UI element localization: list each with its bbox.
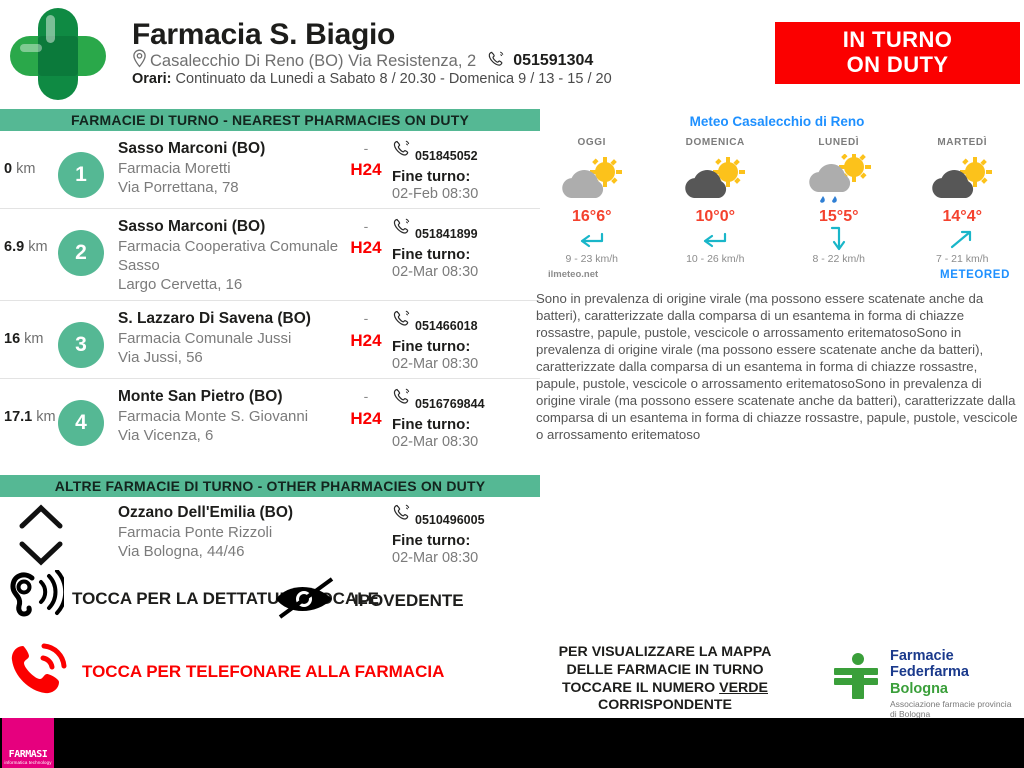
badge-line-1: IN TURNO — [843, 28, 953, 53]
pharmacy-town: Sasso Marconi (BO) — [118, 139, 342, 159]
distance-unit: km — [16, 161, 35, 177]
pharmacy-street: Largo Cervetta, 16 — [118, 275, 342, 294]
pharmacy-town: Monte San Pietro (BO) — [118, 387, 342, 407]
table-row[interactable]: 16 km 3 S. Lazzaro Di Savena (BO) Farmac… — [0, 301, 540, 379]
farmasi-logo: FARMASI informatica technology — [2, 718, 54, 768]
table-row[interactable]: 6.9 km 2 Sasso Marconi (BO) Farmacia Coo… — [0, 209, 540, 301]
section-header-nearest: FARMACIE DI TURNO - NEAREST PHARMACIES O… — [0, 109, 540, 131]
low-vision-label: IPOVEDENTE — [354, 591, 464, 611]
map-hint-line-2: DELLE FARMACIE IN TURNO — [520, 662, 810, 680]
phone-number[interactable]: 051845052 — [415, 150, 478, 163]
pharmacy-phone[interactable]: 051591304 — [513, 52, 593, 70]
end-shift-value: 02-Mar 08:30 — [392, 434, 540, 450]
pharmacy-street: Via Vicenza, 6 — [118, 426, 342, 445]
pharmacy-name: Farmacia Ponte Rizzoli — [118, 523, 342, 542]
h24-cell — [342, 503, 390, 505]
phone-icon — [392, 503, 411, 526]
pharmacy-address-row: Casalecchio Di Reno (BO) Via Resistenza,… — [132, 49, 593, 73]
pharmacy-phone-row[interactable]: 051845052 — [392, 139, 540, 162]
end-shift-label: Fine turno: — [392, 338, 540, 355]
phone-number[interactable]: 051841899 — [415, 228, 478, 241]
weather-wind: 10 - 26 km/h — [654, 253, 778, 265]
distance-value: 17.1 — [4, 409, 32, 425]
weather-day-name: DOMENICA — [654, 137, 778, 148]
pharmacy-phone-row[interactable]: 051466018 — [392, 309, 540, 332]
pharmacy-info: S. Lazzaro Di Savena (BO) Farmacia Comun… — [104, 309, 342, 367]
phone-icon — [392, 387, 411, 410]
weather-credits: ilmeteo.net METEORED — [530, 265, 1024, 281]
end-shift-value: 02-Mar 08:30 — [392, 550, 540, 565]
weather-day-name: LUNEDÌ — [777, 137, 901, 148]
h24-label: H24 — [342, 331, 390, 351]
cloud-dark-sun-icon — [901, 154, 1024, 206]
pharmacy-town: Sasso Marconi (BO) — [118, 217, 342, 237]
h24-cell: - H24 — [342, 217, 390, 258]
weather-wind: 8 - 22 km/h — [777, 253, 901, 265]
pharmacy-hours: Orari: Continuato da Lunedi a Sabato 8 /… — [132, 71, 612, 87]
weather-widget: Meteo Casalecchio di Reno OGGI — [530, 112, 1024, 284]
map-hint-line-3: TOCCARE IL NUMERO VERDE — [520, 680, 810, 698]
federfarma-person-icon — [832, 652, 880, 700]
badge-line-2: ON DUTY — [847, 53, 949, 78]
wind-arrow-upright-icon — [901, 226, 1024, 252]
wind-arrow-left-icon — [654, 226, 778, 252]
scroll-spacer — [0, 503, 58, 519]
map-hint-line-1: PER VISUALIZZARE LA MAPPA — [520, 644, 810, 662]
federfarma-logo: Farmacie Federfarma Bologna Associazione… — [832, 648, 1012, 708]
contact-cell: 051841899 Fine turno: 02-Mar 08:30 — [390, 217, 540, 280]
hours-value: Continuato da Lunedi a Sabato 8 / 20.30 … — [176, 71, 612, 87]
weather-temp: 10°0° — [654, 208, 778, 226]
h24-cell: - H24 — [342, 139, 390, 180]
h24-cell: - H24 — [342, 387, 390, 428]
weather-days: OGGI 16°6° — [530, 137, 1024, 265]
map-hint-line-4: CORRISPONDENTE — [520, 697, 810, 715]
cloud-dark-sun-icon — [654, 154, 778, 206]
end-shift-label: Fine turno: — [392, 168, 540, 185]
phone-icon — [392, 139, 411, 162]
phone-ringing-icon — [8, 640, 72, 705]
cloud-sun-icon — [530, 154, 654, 206]
distance-unit: km — [24, 331, 43, 347]
pharmacy-info: Monte San Pietro (BO) Farmacia Monte S. … — [104, 387, 342, 445]
pharmacy-phone-row[interactable]: 0510496005 — [392, 503, 540, 526]
dash-label: - — [342, 311, 390, 326]
eye-slash-icon — [270, 575, 346, 626]
h24-label: H24 — [342, 409, 390, 429]
end-shift-value: 02-Mar 08:30 — [392, 264, 540, 280]
end-shift-value: 02-Feb 08:30 — [392, 186, 540, 202]
distance-unit: km — [28, 239, 47, 255]
ear-sound-icon — [8, 570, 64, 627]
rank-badge[interactable]: 4 — [58, 400, 104, 446]
distance-cell: 6.9 km — [0, 217, 58, 255]
weather-source: ilmeteo.net — [548, 269, 598, 281]
federfarma-line-1: Farmacie — [890, 648, 1012, 664]
pharmacy-address: Casalecchio Di Reno (BO) Via Resistenza,… — [150, 52, 476, 71]
weather-day: MARTEDÌ 14 — [901, 137, 1024, 265]
contact-cell: 0516769844 Fine turno: 02-Mar 08:30 — [390, 387, 540, 450]
weather-day: DOMENICA 1 — [654, 137, 778, 265]
distance-unit: km — [36, 409, 55, 425]
h24-label: H24 — [342, 160, 390, 180]
map-hint: PER VISUALIZZARE LA MAPPA DELLE FARMACIE… — [520, 644, 810, 715]
call-pharmacy-button[interactable]: TOCCA PER TELEFONARE ALLA FARMACIA — [8, 640, 444, 705]
pharmacy-name: Farmacia Cooperativa Comunale Sasso — [118, 237, 342, 275]
table-row[interactable]: 0 km 1 Sasso Marconi (BO) Farmacia Moret… — [0, 131, 540, 209]
health-info-text: Sono in prevalenza di origine virale (ma… — [536, 290, 1018, 443]
wind-arrow-down-icon — [777, 226, 901, 252]
weather-temp: 14°4° — [901, 208, 1024, 226]
phone-number[interactable]: 0516769844 — [415, 398, 485, 411]
status-badge-on-duty: IN TURNO ON DUTY — [775, 22, 1020, 84]
low-vision-button[interactable]: IPOVEDENTE — [270, 575, 464, 626]
phone-number[interactable]: 051466018 — [415, 320, 478, 333]
map-hint-line-3-a: TOCCARE IL NUMERO — [562, 680, 719, 696]
weather-title: Meteo Casalecchio di Reno — [530, 114, 1024, 129]
other-pharmacies-list[interactable]: Ozzano Dell'Emilia (BO) Farmacia Ponte R… — [0, 497, 540, 565]
pharmacy-info: Sasso Marconi (BO) Farmacia Cooperativa … — [104, 217, 342, 294]
contact-cell: 051845052 Fine turno: 02-Feb 08:30 — [390, 139, 540, 202]
list-item[interactable]: Ozzano Dell'Emilia (BO) Farmacia Ponte R… — [0, 497, 540, 565]
pharmacy-cross-icon — [8, 6, 108, 102]
farmasi-logo-name: FARMASI — [9, 749, 48, 760]
phone-icon — [487, 50, 505, 73]
distance-value: 0 — [4, 161, 12, 177]
federfarma-line-2: Federfarma — [890, 664, 1012, 680]
end-shift-label: Fine turno: — [392, 246, 540, 263]
dash-label: - — [342, 141, 390, 156]
weather-day-name: OGGI — [530, 137, 654, 148]
pharmacy-street: Via Bologna, 44/46 — [118, 542, 342, 561]
pharmacy-phone-row[interactable]: 051841899 — [392, 217, 540, 240]
section-header-others: ALTRE FARMACIE DI TURNO - OTHER PHARMACI… — [0, 475, 540, 497]
weather-day: LUNEDÌ — [777, 137, 901, 265]
dash-label: - — [342, 219, 390, 234]
distance-cell: 16 km — [0, 309, 58, 347]
pharmacy-name: Farmacia Monte S. Giovanni — [118, 407, 342, 426]
distance-value: 16 — [4, 331, 20, 347]
weather-wind: 7 - 21 km/h — [901, 253, 1024, 265]
pharmacy-street: Via Jussi, 56 — [118, 348, 342, 367]
pharmacy-kiosk-screen: Farmacia S. Biagio Casalecchio Di Reno (… — [0, 0, 1024, 768]
weather-temp: 16°6° — [530, 208, 654, 226]
distance-cell: 0 km — [0, 139, 58, 177]
dash-label: - — [342, 389, 390, 404]
rank-badge[interactable]: 2 — [58, 230, 104, 276]
pharmacy-phone-row[interactable]: 0516769844 — [392, 387, 540, 410]
map-hint-verde: VERDE — [719, 680, 768, 696]
federfarma-line-3: Bologna — [890, 681, 1012, 697]
page-title: Farmacia S. Biagio — [132, 18, 395, 52]
call-pharmacy-label: TOCCA PER TELEFONARE ALLA FARMACIA — [82, 662, 444, 682]
footer-bar: 01/03/2026 Sono le ore 08:56 (Art.9 D.M.… — [0, 718, 1024, 768]
phone-icon — [392, 217, 411, 240]
rain-cloud-sun-icon — [777, 154, 901, 206]
map-pin-icon — [132, 49, 147, 73]
weather-brand: METEORED — [940, 269, 1010, 281]
federfarma-line-4: Associazione farmacie provincia di Bolog… — [890, 699, 1012, 719]
hours-label: Orari: — [132, 71, 172, 87]
h24-label: H24 — [342, 238, 390, 258]
end-shift-label: Fine turno: — [392, 532, 540, 549]
distance-value: 6.9 — [4, 239, 24, 255]
pharmacy-info: Sasso Marconi (BO) Farmacia Moretti Via … — [104, 139, 342, 197]
end-shift-label: Fine turno: — [392, 416, 540, 433]
table-row[interactable]: 17.1 km 4 Monte San Pietro (BO) Farmacia… — [0, 379, 540, 456]
weather-day: OGGI 16°6° — [530, 137, 654, 265]
pharmacy-info: Ozzano Dell'Emilia (BO) Farmacia Ponte R… — [104, 503, 342, 561]
phone-number[interactable]: 0510496005 — [415, 514, 485, 527]
contact-cell: 0510496005 Fine turno: 02-Mar 08:30 — [390, 503, 540, 565]
pharmacy-town: S. Lazzaro Di Savena (BO) — [118, 309, 342, 329]
phone-icon — [392, 309, 411, 332]
contact-cell: 051466018 Fine turno: 02-Mar 08:30 — [390, 309, 540, 372]
header: Farmacia S. Biagio Casalecchio Di Reno (… — [0, 0, 1024, 105]
distance-cell: 17.1 km — [0, 387, 58, 425]
weather-day-name: MARTEDÌ — [901, 137, 1024, 148]
h24-cell: - H24 — [342, 309, 390, 350]
federfarma-text: Farmacie Federfarma Bologna Associazione… — [890, 648, 1012, 720]
pharmacy-name: Farmacia Moretti — [118, 159, 342, 178]
rank-badge[interactable]: 3 — [58, 322, 104, 368]
pharmacy-name: Farmacia Comunale Jussi — [118, 329, 342, 348]
pharmacy-street: Via Porrettana, 78 — [118, 178, 342, 197]
weather-wind: 9 - 23 km/h — [530, 253, 654, 265]
wind-arrow-left-icon — [530, 226, 654, 252]
end-shift-value: 02-Mar 08:30 — [392, 356, 540, 372]
rank-badge[interactable]: 1 — [58, 152, 104, 198]
pharmacy-town: Ozzano Dell'Emilia (BO) — [118, 503, 342, 523]
nearest-pharmacies-list: 0 km 1 Sasso Marconi (BO) Farmacia Moret… — [0, 131, 540, 456]
farmasi-logo-sub: informatica technology — [4, 760, 51, 765]
